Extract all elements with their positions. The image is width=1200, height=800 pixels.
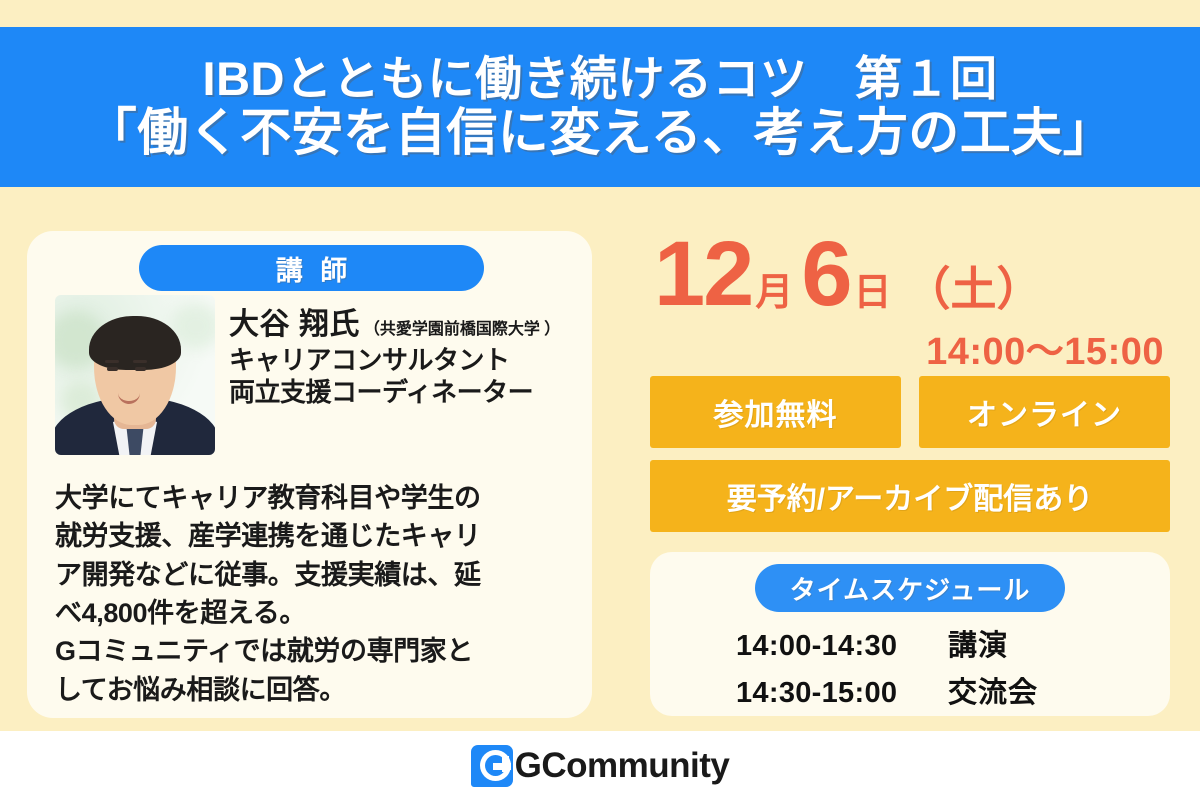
portrait-eye-left <box>107 367 118 371</box>
header-title-line-1: IBDとともに働き続けるコツ 第１回 <box>203 54 998 104</box>
event-date-block: 12 月 6 日 （土） 14:00〜15:00 <box>650 228 1170 358</box>
event-month-unit: 月 <box>755 274 793 312</box>
speaker-affiliation: （共愛学園前橋国際大学 ） <box>364 315 560 339</box>
logo-g-stem <box>502 756 509 772</box>
schedule-row: 14:30-15:00 交流会 <box>650 669 1170 711</box>
schedule-row: 14:00-14:30 講演 <box>650 622 1170 664</box>
badge-online: オンライン <box>919 376 1170 448</box>
schedule-section-label: タイムスケジュール <box>790 570 1031 607</box>
event-weekday: （土） <box>905 266 1043 312</box>
speaker-portrait-photo <box>55 295 215 455</box>
time-schedule-card: タイムスケジュール 14:00-14:30 講演 14:30-15:00 交流会 <box>650 552 1170 716</box>
speaker-name: 大谷 翔氏 <box>229 299 360 343</box>
speaker-biography: 大学にてキャリア教育科目や学生の 就労支援、産学連携を通じたキャリ ア開発などに… <box>55 479 575 709</box>
event-badges: 参加無料 オンライン 要予約/アーカイブ配信あり <box>650 376 1170 532</box>
schedule-section-pill: タイムスケジュール <box>755 564 1065 612</box>
schedule-label: 講演 <box>948 622 1008 664</box>
header-banner: IBDとともに働き続けるコツ 第１回 「働く不安を自信に変える、考え方の工夫」 <box>0 27 1200 187</box>
seminar-poster: IBDとともに働き続けるコツ 第１回 「働く不安を自信に変える、考え方の工夫」 … <box>0 0 1200 800</box>
speaker-profile-row: 大谷 翔氏 （共愛学園前橋国際大学 ） キャリアコンサルタント 両立支援コーディ… <box>55 295 570 455</box>
event-day-number: 6 <box>801 228 850 320</box>
schedule-time: 14:00-14:30 <box>736 630 948 663</box>
speaker-role-line-2: 両立支援コーディネーター <box>229 377 560 407</box>
speaker-role-line-1: キャリアコンサルタント <box>229 345 560 375</box>
event-time-range: 14:00〜15:00 <box>926 320 1164 375</box>
speaker-section-pill: 講 師 <box>139 245 484 291</box>
header-title-line-2: 「働く不安を自信に変える、考え方の工夫」 <box>86 106 1114 160</box>
gcommunity-logo-text: GCommunity <box>515 746 730 786</box>
gcommunity-logo: GCommunity <box>471 745 730 787</box>
badge-reservation-archive: 要予約/アーカイブ配信あり <box>650 460 1170 532</box>
event-day-unit: 日 <box>854 274 892 312</box>
speaker-section-label: 講 師 <box>271 249 353 288</box>
speaker-text-block: 大谷 翔氏 （共愛学園前橋国際大学 ） キャリアコンサルタント 両立支援コーディ… <box>229 295 560 407</box>
gcommunity-g-icon <box>471 745 513 787</box>
speaker-card: 講 師 大谷 翔氏 （共 <box>27 231 592 718</box>
badge-row-top: 参加無料 オンライン <box>650 376 1170 448</box>
portrait-eyebrow-right <box>133 360 147 363</box>
schedule-rows: 14:00-14:30 講演 14:30-15:00 交流会 <box>650 622 1170 716</box>
event-month-number: 12 <box>654 228 752 320</box>
event-date-line: 12 月 6 日 （土） <box>654 228 1043 320</box>
schedule-time: 14:30-15:00 <box>736 677 948 710</box>
footer-bar: GCommunity <box>0 731 1200 800</box>
speaker-name-line: 大谷 翔氏 （共愛学園前橋国際大学 ） <box>229 299 560 343</box>
portrait-eyebrow-left <box>105 360 119 363</box>
schedule-label: 交流会 <box>948 669 1038 711</box>
badge-free-participation: 参加無料 <box>650 376 901 448</box>
portrait-eye-right <box>135 367 146 371</box>
